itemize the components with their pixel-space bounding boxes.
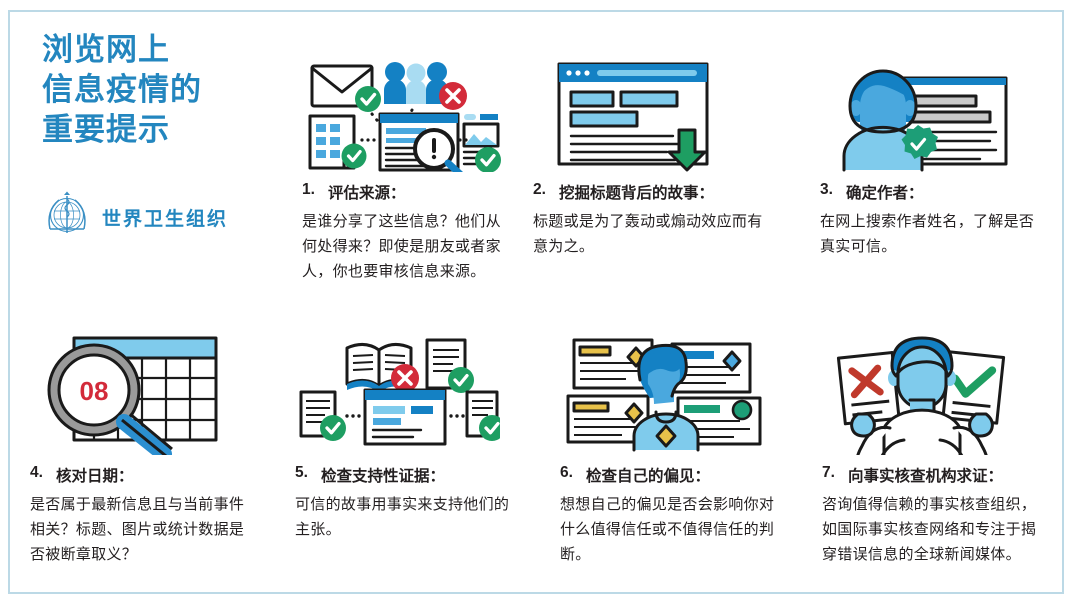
tip-heading-text-5: 检查支持性证据： [321,464,445,486]
tip-body-6: 想想自己的偏见是否会影响你对什么值得信任或不值得信任的判断。 [560,492,775,567]
tip-heading-6: 6. 检查自己的偏见： [560,464,775,486]
tip-card-4: 08 4. 核对日期： 是否属于最新信息且与当前事件相关？标题、图片或统计数据是… [30,330,245,567]
tip-heading-2: 2. 挖掘标题背后的故事： [533,181,768,203]
tip-body-7: 咨询值得信赖的事实核查组织，如国际事实核查网络和专注于揭穿错误信息的全球新闻媒体… [822,492,1042,567]
assess-source-icon [302,52,512,177]
tip-card-7: 7. 向事实核查机构求证： 咨询值得信赖的事实核查组织，如国际事实核查网络和专注… [822,330,1042,567]
tip-heading-text-6: 检查自己的偏见： [586,464,710,486]
tip-body-5: 可信的故事用事实来支持他们的主张。 [295,492,520,542]
tip-heading-text-7: 向事实核查机构求证： [848,464,1003,486]
tip-number-2: 2. [533,181,559,199]
organization-name: 世界卫生组织 [102,204,228,231]
tip-body-2: 标题或是为了轰动或煽动效应而有意为之。 [533,209,768,259]
tip-heading-text-2: 挖掘标题背后的故事： [559,181,714,203]
tip-heading-5: 5. 检查支持性证据： [295,464,520,486]
tip-body-1: 是谁分享了这些信息？他们从何处得来？即使是朋友或者家人，你也要审核信息来源。 [302,209,512,284]
page-title: 浏览网上 信息疫情的 重要提示 [42,30,292,150]
tip-number-6: 6. [560,464,586,482]
tip-card-2: 2. 挖掘标题背后的故事： 标题或是为了轰动或煽动效应而有意为之。 [533,52,768,259]
tip-card-6: 6. 检查自己的偏见： 想想自己的偏见是否会影响你对什么值得信任或不值得信任的判… [560,330,775,567]
supporting-evidence-icon [295,330,520,460]
tip-heading-1: 1. 评估来源： [302,181,512,203]
tip-card-5: 5. 检查支持性证据： 可信的故事用事实来支持他们的主张。 [295,330,520,542]
tip-heading-text-1: 评估来源： [328,181,406,203]
tip-heading-text-3: 确定作者： [846,181,924,203]
headline-browser-icon [533,52,768,177]
svg-text:08: 08 [80,376,109,406]
tip-heading-4: 4. 核对日期： [30,464,245,486]
tip-number-7: 7. [822,464,848,482]
tip-heading-text-4: 核对日期： [56,464,134,486]
tip-number-1: 1. [302,181,328,199]
tip-card-3: 3. 确定作者： 在网上搜索作者姓名，了解是否真实可信。 [820,52,1035,259]
tip-heading-3: 3. 确定作者： [820,181,1035,203]
tip-heading-7: 7. 向事实核查机构求证： [822,464,1042,486]
verified-author-icon [820,52,1035,177]
tip-body-4: 是否属于最新信息且与当前事件相关？标题、图片或统计数据是否被断章取义？ [30,492,245,567]
personal-bias-icon [560,330,775,460]
fact-check-icon [822,330,1042,460]
title-block: 浏览网上 信息疫情的 重要提示 世界卫生组织 [42,30,292,245]
who-emblem-icon [42,190,92,245]
organization-logo-row: 世界卫生组织 [42,190,292,245]
tip-card-1: 1. 评估来源： 是谁分享了这些信息？他们从何处得来？即使是朋友或者家人，你也要… [302,52,512,284]
calendar-magnifier-icon: 08 [30,330,245,460]
tip-number-4: 4. [30,464,56,482]
tip-number-5: 5. [295,464,321,482]
tip-body-3: 在网上搜索作者姓名，了解是否真实可信。 [820,209,1035,259]
tip-number-3: 3. [820,181,846,199]
